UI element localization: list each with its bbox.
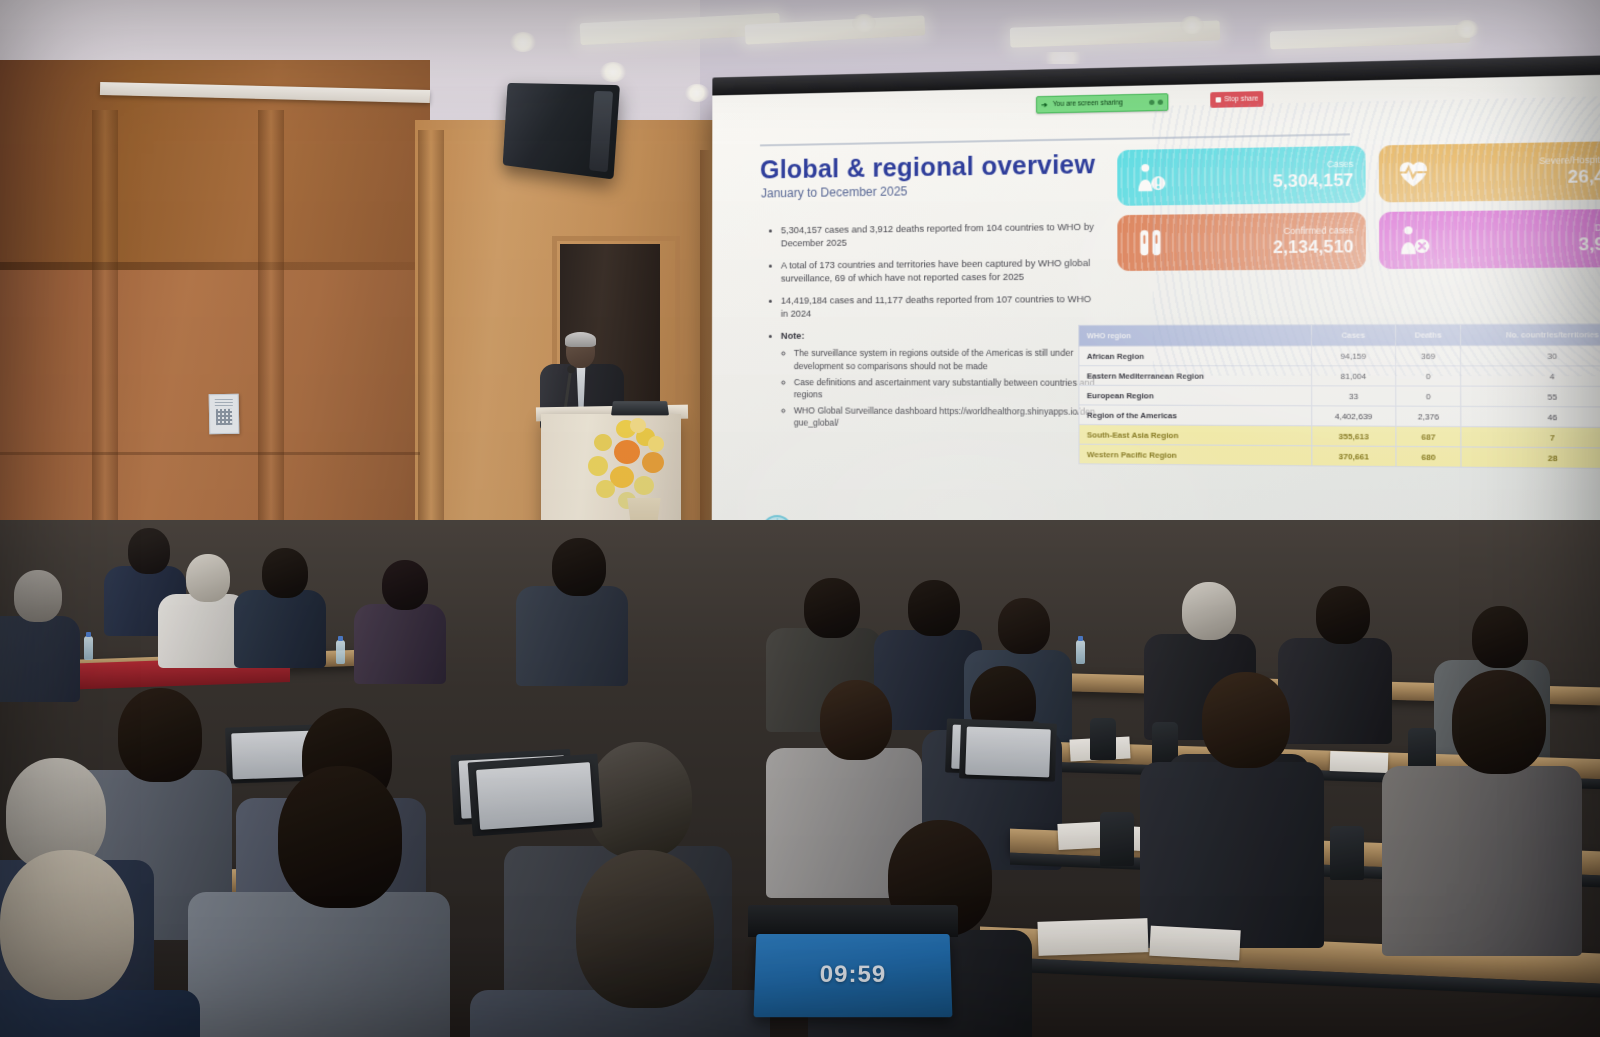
title-rule bbox=[760, 133, 1350, 146]
head bbox=[1182, 582, 1236, 640]
foreground-laptop-screen[interactable]: 09:59 bbox=[754, 934, 953, 1017]
bullet-item: A total of 173 countries and territories… bbox=[781, 257, 1100, 286]
share-controls[interactable] bbox=[1150, 100, 1164, 105]
desk-papers bbox=[1149, 926, 1240, 961]
ceiling-speaker bbox=[503, 83, 620, 180]
table-row-highlighted: Western Pacific Region 370,661 680 28 bbox=[1079, 444, 1600, 469]
flower bbox=[596, 480, 615, 498]
kpi-value: 3,912 bbox=[1578, 236, 1600, 254]
regional-summary-table: WHO region Cases Deaths No. countries/te… bbox=[1078, 323, 1600, 469]
laptop-screen bbox=[965, 727, 1051, 778]
kpi-label: Severe/Hospitalized bbox=[1539, 155, 1600, 166]
cell-deaths: 0 bbox=[1396, 366, 1462, 386]
head bbox=[14, 570, 62, 622]
table-row: African Region 94,159 369 30 bbox=[1079, 345, 1600, 366]
torso bbox=[0, 990, 200, 1037]
head bbox=[908, 580, 960, 636]
head bbox=[820, 680, 892, 760]
head bbox=[1452, 670, 1546, 774]
head bbox=[128, 528, 170, 574]
flower bbox=[588, 456, 608, 476]
heart-pulse-icon bbox=[1391, 157, 1436, 189]
cell-cases: 94,159 bbox=[1312, 346, 1396, 366]
flower bbox=[630, 418, 646, 433]
kpi-card-grid: Cases5,304,157 Severe/Hospitalized26,471 bbox=[1117, 141, 1600, 271]
cell-region: Region of the Americas bbox=[1079, 405, 1312, 426]
person-alert-icon bbox=[1129, 162, 1172, 194]
downlight-3 bbox=[685, 84, 709, 102]
cell-deaths: 0 bbox=[1396, 386, 1462, 406]
cell-deaths: 680 bbox=[1396, 446, 1462, 467]
cell-deaths: 369 bbox=[1395, 346, 1461, 366]
chair-back bbox=[1090, 718, 1116, 760]
cell-deaths: 687 bbox=[1396, 426, 1462, 447]
test-tubes-icon bbox=[1129, 227, 1172, 259]
cell-region: European Region bbox=[1079, 385, 1312, 406]
downlight-6 bbox=[1455, 20, 1479, 38]
head bbox=[1472, 606, 1528, 668]
water-bottle bbox=[84, 636, 93, 660]
downlight-5 bbox=[1180, 16, 1204, 34]
flower bbox=[614, 440, 640, 464]
cell-region: South-East Asia Region bbox=[1079, 425, 1312, 446]
presenter-hair bbox=[565, 332, 596, 347]
flower bbox=[634, 476, 654, 495]
th-deaths: Deaths bbox=[1395, 324, 1461, 345]
torso bbox=[354, 604, 446, 684]
share-status-label: You are screen sharing bbox=[1053, 99, 1123, 108]
head bbox=[118, 688, 202, 782]
kpi-card-deaths: Deaths3,912 bbox=[1379, 209, 1600, 269]
table-header-row: WHO region Cases Deaths No. countries/te… bbox=[1079, 324, 1600, 346]
table-row: Eastern Mediterranean Region 81,004 0 4 bbox=[1079, 366, 1600, 387]
cell-deaths: 2,376 bbox=[1396, 406, 1462, 427]
laptop-clock: 09:59 bbox=[755, 961, 952, 989]
head bbox=[262, 548, 308, 598]
head bbox=[998, 598, 1050, 654]
cell-cases: 355,613 bbox=[1312, 426, 1396, 447]
cell-cases: 81,004 bbox=[1312, 366, 1396, 386]
laptop-screen bbox=[476, 762, 594, 830]
cell-countries: 28 bbox=[1461, 447, 1600, 469]
torso bbox=[234, 590, 326, 668]
note-item: The surveillance system in regions outsi… bbox=[794, 347, 1100, 372]
head bbox=[278, 766, 402, 908]
head bbox=[1316, 586, 1370, 644]
share-icon: ➔ bbox=[1041, 101, 1047, 109]
downlight-1 bbox=[510, 32, 536, 52]
note-sublist: The surveillance system in regions outsi… bbox=[781, 347, 1100, 431]
stop-icon bbox=[1216, 97, 1221, 102]
cell-countries: 7 bbox=[1461, 427, 1600, 449]
cell-countries: 4 bbox=[1461, 366, 1600, 387]
foreground-laptop-lid bbox=[748, 905, 958, 937]
kpi-card-severe: Severe/Hospitalized26,471 bbox=[1379, 141, 1600, 203]
kpi-label: Confirmed cases bbox=[1273, 225, 1354, 235]
head bbox=[1202, 672, 1290, 768]
head bbox=[382, 560, 428, 610]
flower bbox=[648, 436, 664, 452]
note-item-dashboard-link: WHO Global Surveillance dashboard https:… bbox=[794, 405, 1100, 431]
conference-room-photo: ➔ You are screen sharing Stop share Glob… bbox=[0, 0, 1600, 1037]
slide-subtitle: January to December 2025 bbox=[761, 184, 907, 200]
slide-bullet-list: 5,304,157 cases and 3,912 deaths reporte… bbox=[770, 221, 1100, 441]
flower bbox=[642, 452, 664, 473]
person-x-icon bbox=[1391, 224, 1436, 256]
cell-region: Eastern Mediterranean Region bbox=[1079, 366, 1312, 386]
note-block: Note: The surveillance system in regions… bbox=[781, 329, 1100, 431]
kpi-card-confirmed: Confirmed cases2,134,510 bbox=[1117, 212, 1366, 271]
cell-cases: 33 bbox=[1312, 386, 1396, 406]
note-label: Note: bbox=[781, 331, 805, 341]
water-bottle bbox=[1076, 640, 1085, 664]
th-region: WHO region bbox=[1079, 325, 1312, 346]
hvac-vent bbox=[1040, 52, 1086, 64]
stop-share-label: Stop share bbox=[1224, 95, 1258, 103]
water-bottle bbox=[336, 640, 345, 664]
chair-back bbox=[1330, 826, 1364, 880]
podium-laptop bbox=[611, 401, 669, 415]
head bbox=[0, 850, 134, 1000]
kpi-value: 5,304,157 bbox=[1273, 172, 1354, 191]
torso bbox=[1278, 638, 1392, 744]
kpi-value: 2,134,510 bbox=[1273, 239, 1354, 257]
table-row: European Region 33 0 55 bbox=[1079, 385, 1600, 407]
bullet-item: 5,304,157 cases and 3,912 deaths reporte… bbox=[781, 221, 1099, 251]
wall-seam-1 bbox=[0, 452, 420, 455]
chair-back bbox=[1100, 812, 1134, 866]
cell-region: Western Pacific Region bbox=[1079, 444, 1312, 466]
flower bbox=[594, 434, 612, 451]
cell-countries: 30 bbox=[1461, 345, 1600, 366]
torso bbox=[1382, 766, 1582, 956]
head bbox=[804, 578, 860, 638]
cell-countries: 55 bbox=[1461, 386, 1600, 407]
th-cases: Cases bbox=[1311, 325, 1395, 346]
qr-code-sign bbox=[209, 394, 240, 435]
kpi-value: 26,471 bbox=[1539, 168, 1600, 187]
th-countries: No. countries/territories bbox=[1461, 324, 1600, 346]
wall-trim-band bbox=[0, 262, 420, 270]
desk-papers bbox=[1330, 751, 1389, 773]
cell-region: African Region bbox=[1079, 346, 1312, 366]
torso bbox=[1140, 762, 1324, 948]
head bbox=[588, 742, 692, 858]
head bbox=[552, 538, 606, 596]
note-item: Case definitions and ascertainment vary … bbox=[794, 376, 1100, 402]
torso bbox=[188, 892, 450, 1037]
downlight-4 bbox=[852, 14, 876, 32]
torso bbox=[516, 586, 628, 686]
desk-papers bbox=[1037, 918, 1148, 956]
stop-share-button[interactable]: Stop share bbox=[1210, 91, 1264, 108]
kpi-label: Deaths bbox=[1578, 222, 1600, 232]
slide-title: Global & regional overview bbox=[760, 150, 1095, 185]
torso bbox=[0, 616, 80, 702]
bullet-item: 14,419,184 cases and 11,177 deaths repor… bbox=[781, 293, 1100, 321]
kpi-card-cases: Cases5,304,157 bbox=[1117, 146, 1365, 206]
downlight-2 bbox=[600, 62, 626, 82]
head bbox=[576, 850, 714, 1008]
cell-countries: 46 bbox=[1461, 406, 1600, 427]
kpi-label: Cases bbox=[1273, 159, 1354, 169]
cell-cases: 370,661 bbox=[1312, 446, 1396, 467]
screen-share-status-bar: ➔ You are screen sharing bbox=[1036, 93, 1169, 113]
head bbox=[186, 554, 230, 602]
cell-cases: 4,402,639 bbox=[1312, 406, 1396, 426]
